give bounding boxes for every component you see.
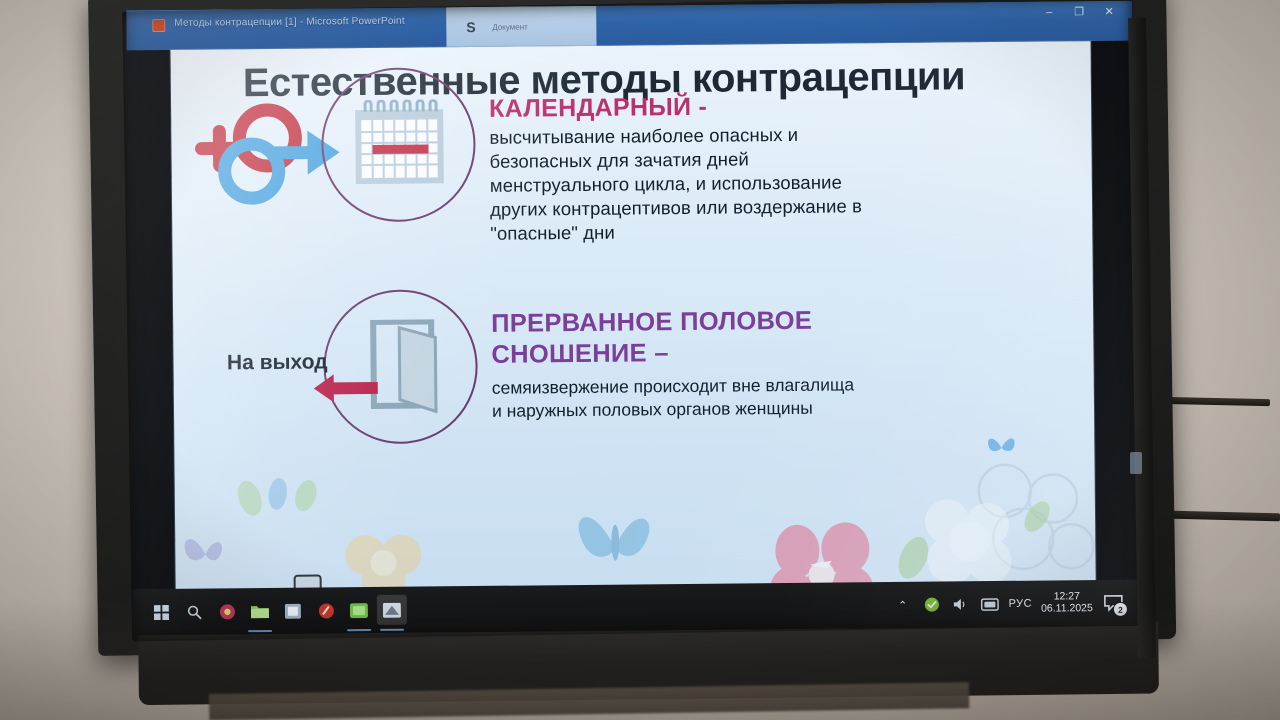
floor-shadow xyxy=(0,600,1280,720)
room-scene: Методы контрацепции [1] - Microsoft Powe… xyxy=(0,0,1280,720)
bezel-inner-shadow xyxy=(122,0,1142,641)
monitor-side-button[interactable] xyxy=(1130,452,1142,474)
